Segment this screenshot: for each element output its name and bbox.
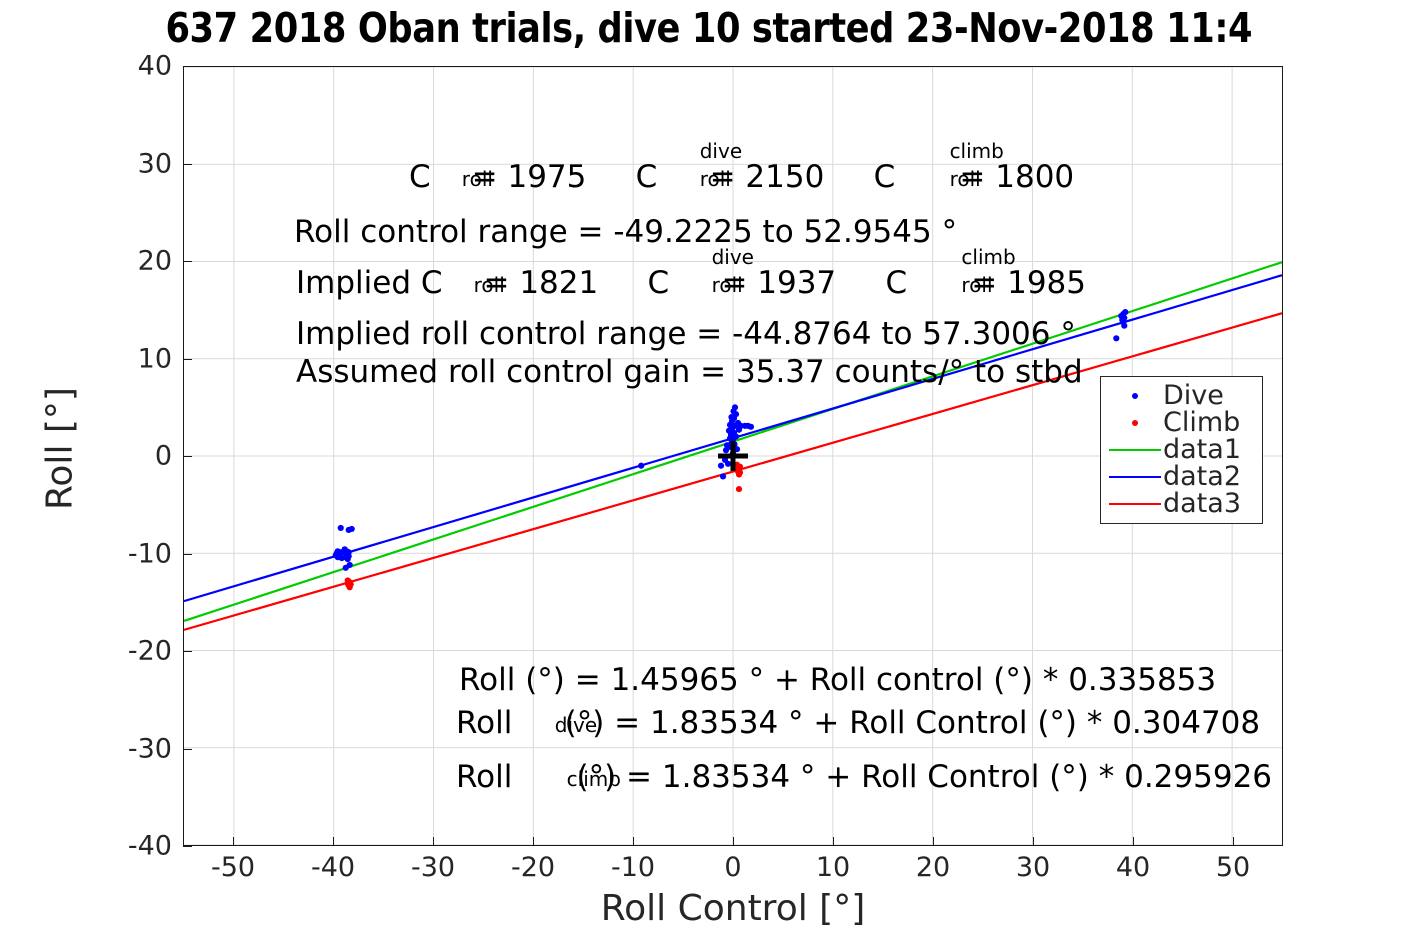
y-tick — [183, 651, 192, 652]
implied-c-climb-symbol: Cclimbrollclimb — [885, 263, 961, 306]
origin-cross-marker — [718, 441, 748, 471]
y-axis-label: Roll [°] — [40, 149, 81, 749]
annot-line3: Implied Crollroll = 1821 Cdiverolldive =… — [296, 263, 1086, 306]
page-title: 637 2018 Oban trials, dive 10 started 23… — [0, 2, 1417, 54]
y-tick — [183, 749, 192, 750]
eq-dive-subscript: divedive — [512, 703, 554, 746]
x-tick-label: -10 — [611, 852, 655, 883]
legend-marker-icon — [1107, 411, 1163, 435]
line-icon — [1109, 449, 1161, 451]
annot-line1: Crollroll = 1975 Cdiverolldive = 2150 Cc… — [409, 157, 1074, 200]
legend-line-icon — [1107, 492, 1163, 516]
x-tick-label: 0 — [724, 852, 741, 883]
annot-roll-control-range: Roll control range = -49.2225 to 52.9545… — [294, 212, 957, 252]
x-tick-label: -50 — [211, 852, 255, 883]
x-tick-label: -40 — [311, 852, 355, 883]
y-tick-label: 10 — [138, 343, 172, 374]
y-tick-label: 40 — [138, 51, 172, 82]
y-tick-label: -20 — [128, 636, 172, 667]
figure-root: 637 2018 Oban trials, dive 10 started 23… — [0, 0, 1417, 945]
x-axis-label: Roll Control [°] — [183, 888, 1283, 929]
annot-equation-roll: Roll (°) = 1.45965 ° + Roll control (°) … — [459, 660, 1216, 700]
legend-item-climb[interactable]: Climb — [1101, 409, 1262, 436]
eq-dive-rest: (°) = 1.83534 ° + Roll Control (°) * 0.3… — [565, 705, 1261, 741]
x-tick — [933, 837, 934, 846]
x-tick-label: -20 — [511, 852, 555, 883]
y-tick-labels: 403020100-10-20-30-40 — [0, 0, 172, 945]
legend-line-icon — [1107, 438, 1163, 462]
y-tick-label: 30 — [138, 148, 172, 179]
legend-item-label: data2 — [1163, 463, 1241, 490]
x-tick — [533, 837, 534, 846]
x-tick-label: 10 — [816, 852, 850, 883]
c-roll-symbol: Crollroll — [409, 157, 462, 200]
legend-item-dive[interactable]: Dive — [1101, 382, 1262, 409]
y-tick-label: 20 — [138, 246, 172, 277]
x-tick-label: 20 — [916, 852, 950, 883]
line-icon — [1109, 476, 1161, 478]
x-tick — [733, 837, 734, 846]
y-tick — [183, 261, 192, 262]
x-tick-label: 50 — [1216, 852, 1250, 883]
y-tick-label: -10 — [128, 538, 172, 569]
legend-item-label: data3 — [1163, 490, 1241, 517]
x-tick — [1033, 837, 1034, 846]
eq-climb-subscript: climbclimb — [512, 757, 566, 800]
legend-item-label: Climb — [1163, 409, 1240, 436]
x-tick — [1233, 837, 1234, 846]
y-tick-label: 0 — [155, 441, 172, 472]
x-tick — [333, 837, 334, 846]
line-icon — [1109, 503, 1161, 505]
annot-assumed-roll-gain: Assumed roll control gain = 35.37 counts… — [296, 352, 1083, 392]
x-tick-label: 40 — [1116, 852, 1150, 883]
x-tick-label: -30 — [411, 852, 455, 883]
y-tick — [183, 456, 192, 457]
legend[interactable]: DiveClimbdata1data2data3 — [1100, 376, 1263, 524]
legend-item-data1[interactable]: data1 — [1101, 436, 1262, 463]
c-roll-climb-symbol: Cclimbrollclimb — [874, 157, 950, 200]
dot-icon — [1132, 420, 1138, 426]
y-tick — [183, 66, 192, 67]
page-title-text: 637 2018 Oban trials, dive 10 started 23… — [165, 2, 1252, 54]
y-tick — [183, 846, 192, 847]
implied-c-dive-symbol: Cdiverolldive — [648, 263, 712, 306]
y-tick — [183, 164, 192, 165]
y-tick — [183, 359, 192, 360]
legend-item-label: Dive — [1163, 382, 1224, 409]
legend-item-data3[interactable]: data3 — [1101, 490, 1262, 517]
annot-equation-roll-dive: Rolldivedive (°) = 1.83534 ° + Roll Cont… — [456, 703, 1260, 746]
legend-item-data2[interactable]: data2 — [1101, 463, 1262, 490]
c-roll-dive-symbol: Cdiverolldive — [636, 157, 700, 200]
annot-equation-roll-climb: Rollclimbclimb (°) = 1.83534 ° + Roll Co… — [456, 757, 1272, 800]
x-tick — [833, 837, 834, 846]
y-tick-label: -30 — [128, 733, 172, 764]
legend-marker-icon — [1107, 384, 1163, 408]
eq-dive-head: Roll — [456, 705, 512, 741]
legend-item-label: data1 — [1163, 436, 1241, 463]
x-tick — [1133, 837, 1134, 846]
y-tick — [183, 554, 192, 555]
y-tick-label: -40 — [128, 831, 172, 862]
annot-implied-roll-control-range: Implied roll control range = -44.8764 to… — [296, 314, 1076, 354]
implied-c-roll-prefix: Implied C — [296, 265, 443, 301]
legend-line-icon — [1107, 465, 1163, 489]
x-tick-label: 30 — [1016, 852, 1050, 883]
x-tick — [233, 837, 234, 846]
eq-climb-rest: (°) = 1.83534 ° + Roll Control (°) * 0.2… — [577, 759, 1273, 795]
dot-icon — [1132, 393, 1138, 399]
eq-climb-head: Roll — [456, 759, 512, 795]
x-tick — [633, 837, 634, 846]
implied-c-roll-sub: rollroll — [443, 263, 474, 306]
x-tick — [433, 837, 434, 846]
